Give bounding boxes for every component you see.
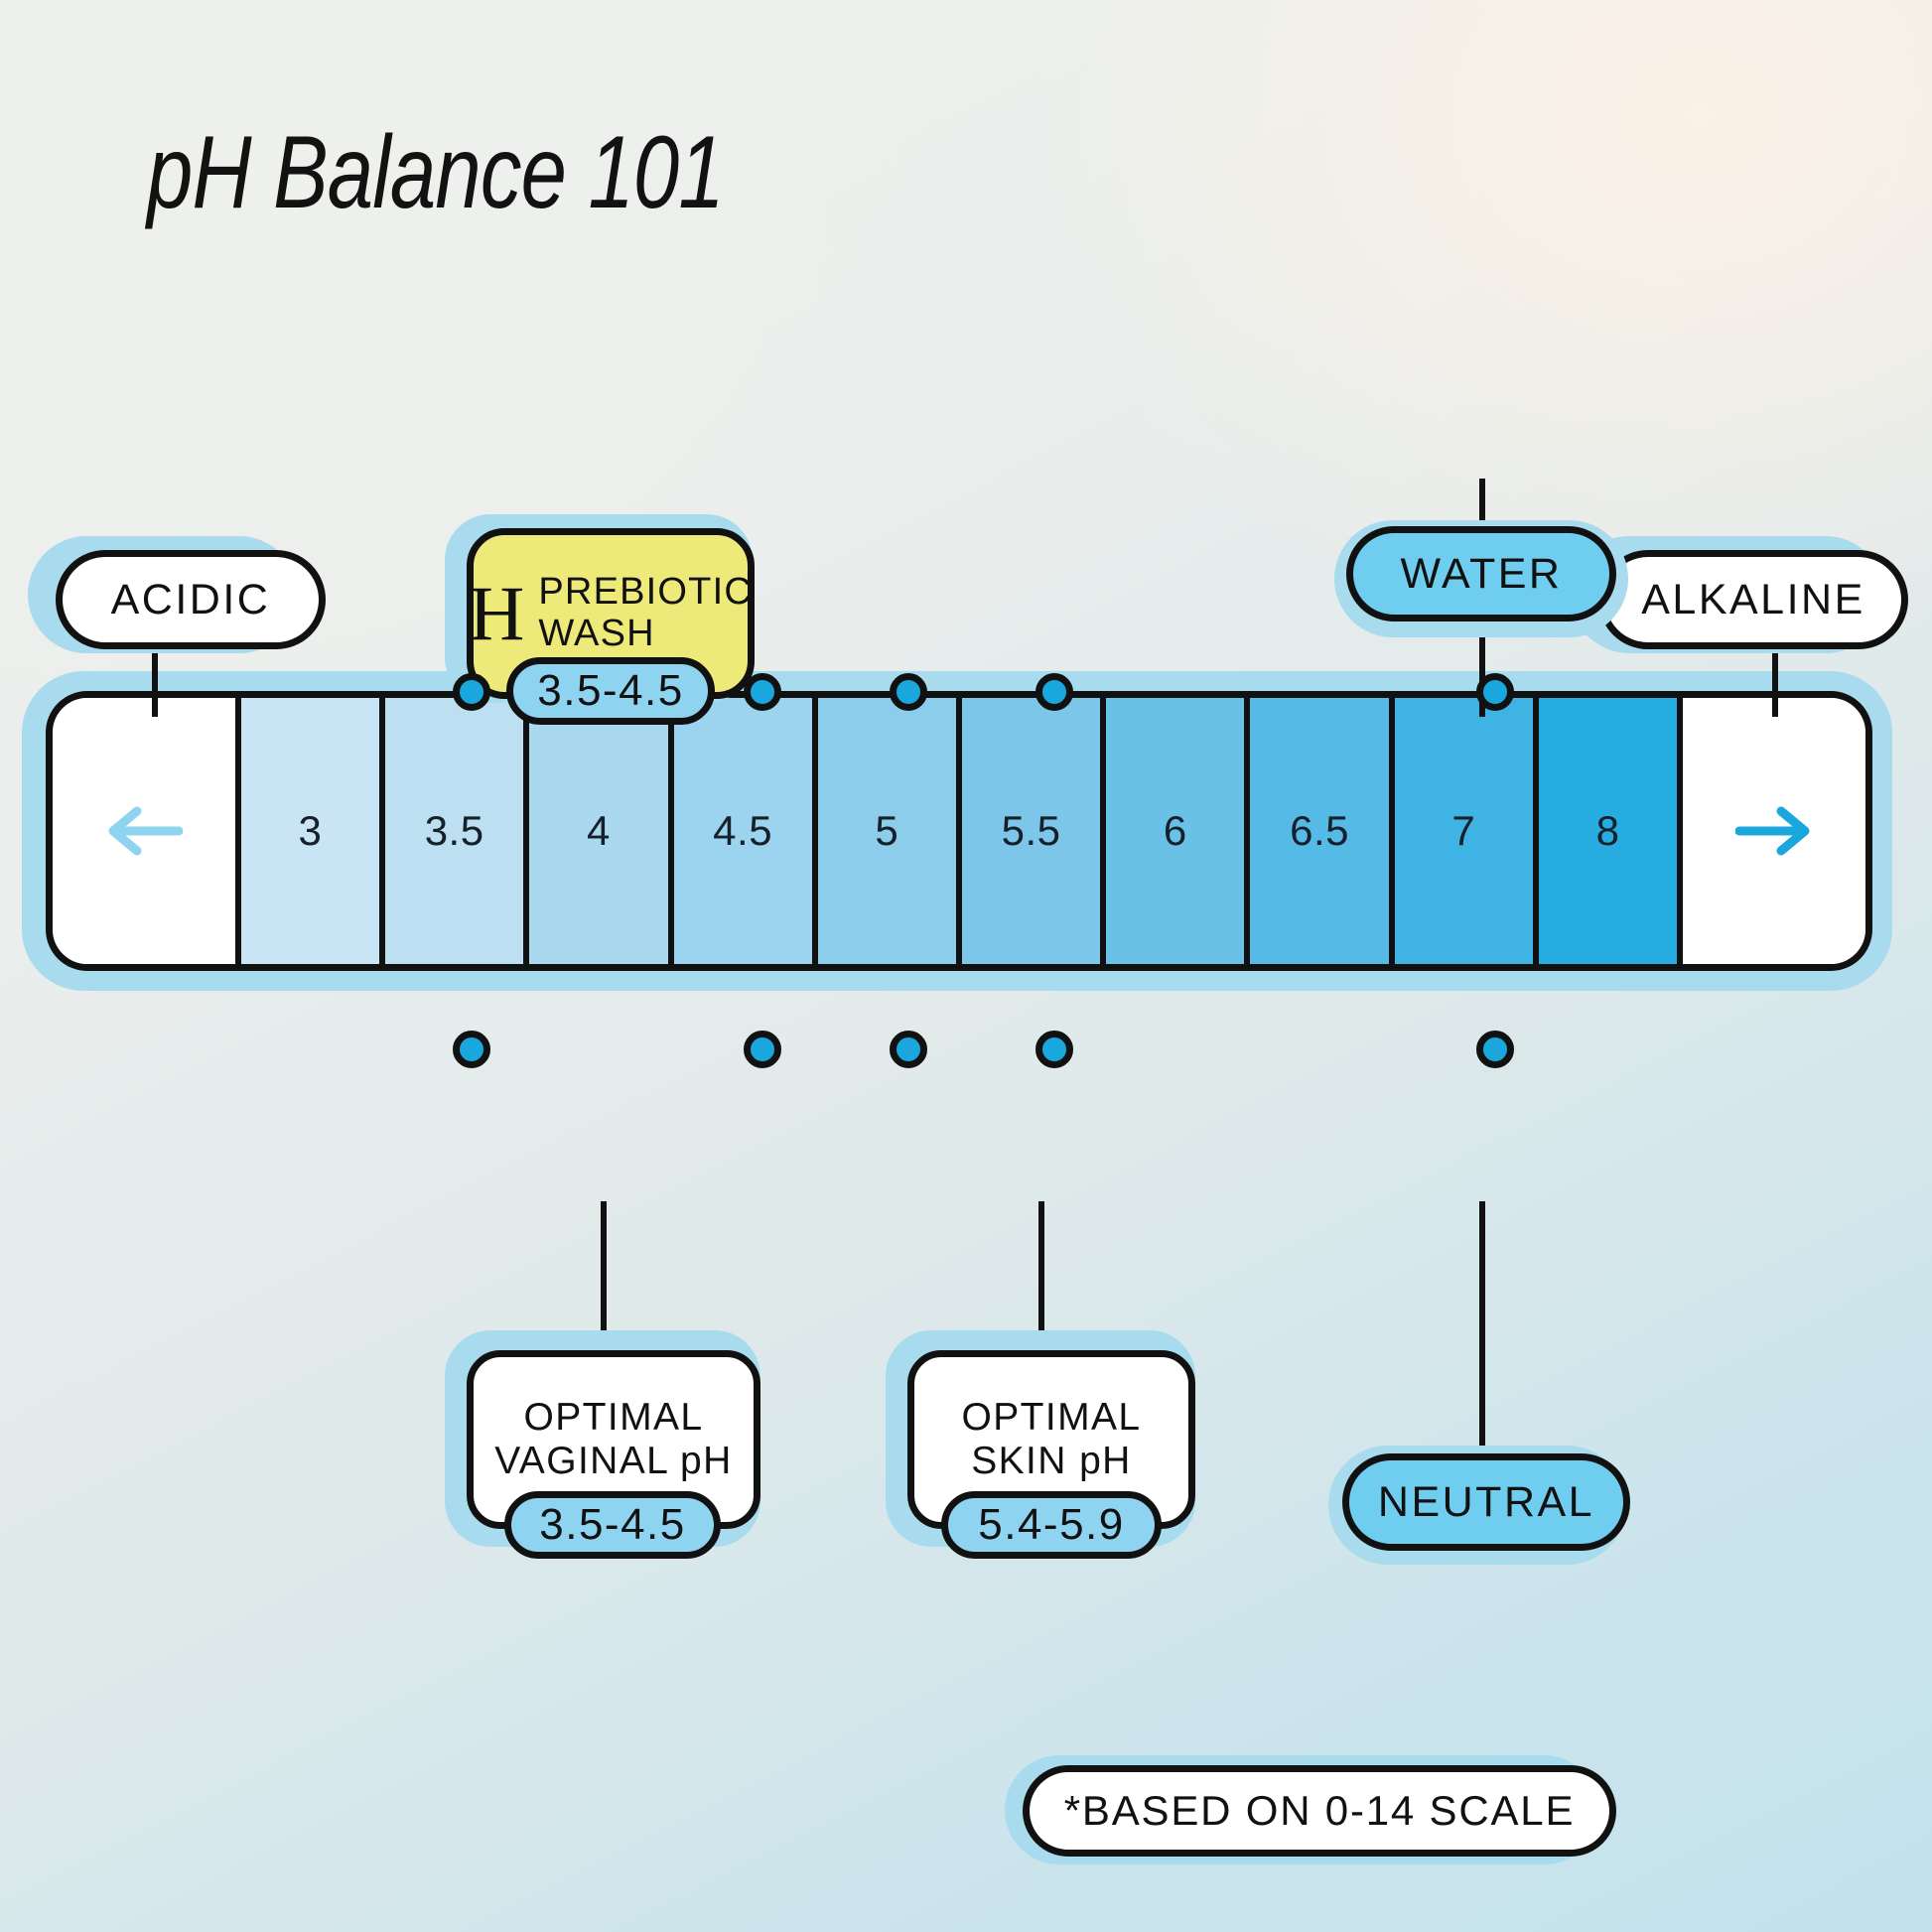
marker-dot-top-3-5: [453, 673, 490, 711]
prebiotic-line2: WASH: [538, 613, 654, 654]
scale-cell-label: 6.5: [1290, 807, 1349, 855]
vaginal-ph-annotation: OPTIMAL VAGINAL pH 3.5-4.5: [445, 1330, 782, 1559]
water-annotation: WATER: [1334, 526, 1632, 655]
acidic-pill[interactable]: ACIDIC: [56, 550, 326, 649]
water-pill[interactable]: WATER: [1346, 526, 1616, 621]
scale-cell-6: 6: [1106, 698, 1250, 964]
marker-dot-top-7: [1476, 673, 1514, 711]
skin-line1: OPTIMAL: [962, 1396, 1142, 1439]
water-label: WATER: [1401, 550, 1563, 599]
scale-cell-label: 8: [1596, 807, 1620, 855]
prebiotic-value: 3.5-4.5: [537, 666, 683, 716]
scale-cell-label: 5: [875, 807, 898, 855]
scale-cell-label: 7: [1451, 807, 1475, 855]
vaginal-line2: VAGINAL pH: [494, 1440, 732, 1482]
footnote-pill: *BASED ON 0-14 SCALE: [1023, 1765, 1616, 1857]
marker-dot-bottom-5-5: [1035, 1031, 1073, 1068]
scale-cell-3-5: 3.5: [385, 698, 529, 964]
prebiotic-line1: PREBIOTIC: [538, 571, 753, 613]
marker-dot-bottom-4-5: [744, 1031, 781, 1068]
neutral-label: NEUTRAL: [1378, 1478, 1594, 1527]
prebiotic-product-name: PREBIOTIC WASH: [538, 572, 753, 655]
marker-dot-top-4-5: [744, 673, 781, 711]
footnote-text: *BASED ON 0-14 SCALE: [1064, 1787, 1576, 1835]
vaginal-value-pill[interactable]: 3.5-4.5: [504, 1491, 721, 1559]
marker-dot-top-5-5: [1035, 673, 1073, 711]
right-arrow-icon: [1735, 802, 1813, 860]
left-arrow-icon: [105, 802, 183, 860]
skin-ph-annotation: OPTIMAL SKIN pH 5.4-5.9: [886, 1330, 1223, 1559]
vaginal-value: 3.5-4.5: [539, 1500, 685, 1550]
footnote-annotation: *BASED ON 0-14 SCALE: [1005, 1755, 1620, 1874]
vaginal-card-text: OPTIMAL VAGINAL pH: [494, 1396, 732, 1484]
brand-lockup: H PREBIOTIC WASH: [469, 572, 753, 655]
alkaline-label: ALKALINE: [1641, 576, 1865, 624]
neutral-pill[interactable]: NEUTRAL: [1342, 1453, 1630, 1551]
scale-cell-label: 3.5: [425, 807, 484, 855]
neutral-annotation: NEUTRAL: [1328, 1449, 1646, 1579]
marker-dot-top-5: [890, 673, 927, 711]
skin-value-pill[interactable]: 5.4-5.9: [941, 1491, 1162, 1559]
marker-dot-bottom-5: [890, 1031, 927, 1068]
marker-dot-bottom-7: [1476, 1031, 1514, 1068]
scale-left-endcap: [53, 698, 241, 964]
skin-value: 5.4-5.9: [978, 1500, 1124, 1550]
scale-cell-5: 5: [818, 698, 962, 964]
marker-dot-bottom-3-5: [453, 1031, 490, 1068]
scale-cell-7: 7: [1395, 698, 1539, 964]
prebiotic-wash-annotation: H PREBIOTIC WASH 3.5-4.5: [445, 514, 772, 713]
connector-neutral: [1479, 1201, 1485, 1477]
scale-right-endcap: [1683, 698, 1865, 964]
acidic-annotation: ACIDIC: [28, 536, 326, 663]
acidic-label: ACIDIC: [111, 576, 271, 624]
skin-line2: SKIN pH: [971, 1440, 1132, 1482]
vaginal-line1: OPTIMAL: [523, 1396, 703, 1439]
alkaline-pill[interactable]: ALKALINE: [1598, 550, 1908, 649]
scale-cell-label: 5.5: [1002, 807, 1061, 855]
scale-cell-label: 4.5: [713, 807, 772, 855]
page-title: pH Balance 101: [147, 117, 724, 228]
scale-cell-4-5: 4.5: [674, 698, 818, 964]
skin-card-text: OPTIMAL SKIN pH: [962, 1396, 1142, 1484]
scale-cell-6-5: 6.5: [1250, 698, 1394, 964]
scale-cell-8: 8: [1539, 698, 1683, 964]
scale-cell-label: 3: [298, 807, 322, 855]
scale-cell-5-5: 5.5: [962, 698, 1106, 964]
scale-cell-label: 6: [1164, 807, 1187, 855]
prebiotic-value-pill[interactable]: 3.5-4.5: [506, 657, 715, 725]
scale-cell-4: 4: [529, 698, 673, 964]
ph-scale-bar: 3 3.5 4 4.5 5 5.5 6 6.5 7 8: [46, 691, 1872, 971]
scale-cell-3: 3: [241, 698, 385, 964]
scale-cell-label: 4: [587, 807, 611, 855]
infographic-canvas: pH Balance 101 3 3.5 4 4.5 5 5.5 6 6.5 7…: [0, 0, 1932, 1932]
brand-mark-h: H: [469, 579, 524, 648]
